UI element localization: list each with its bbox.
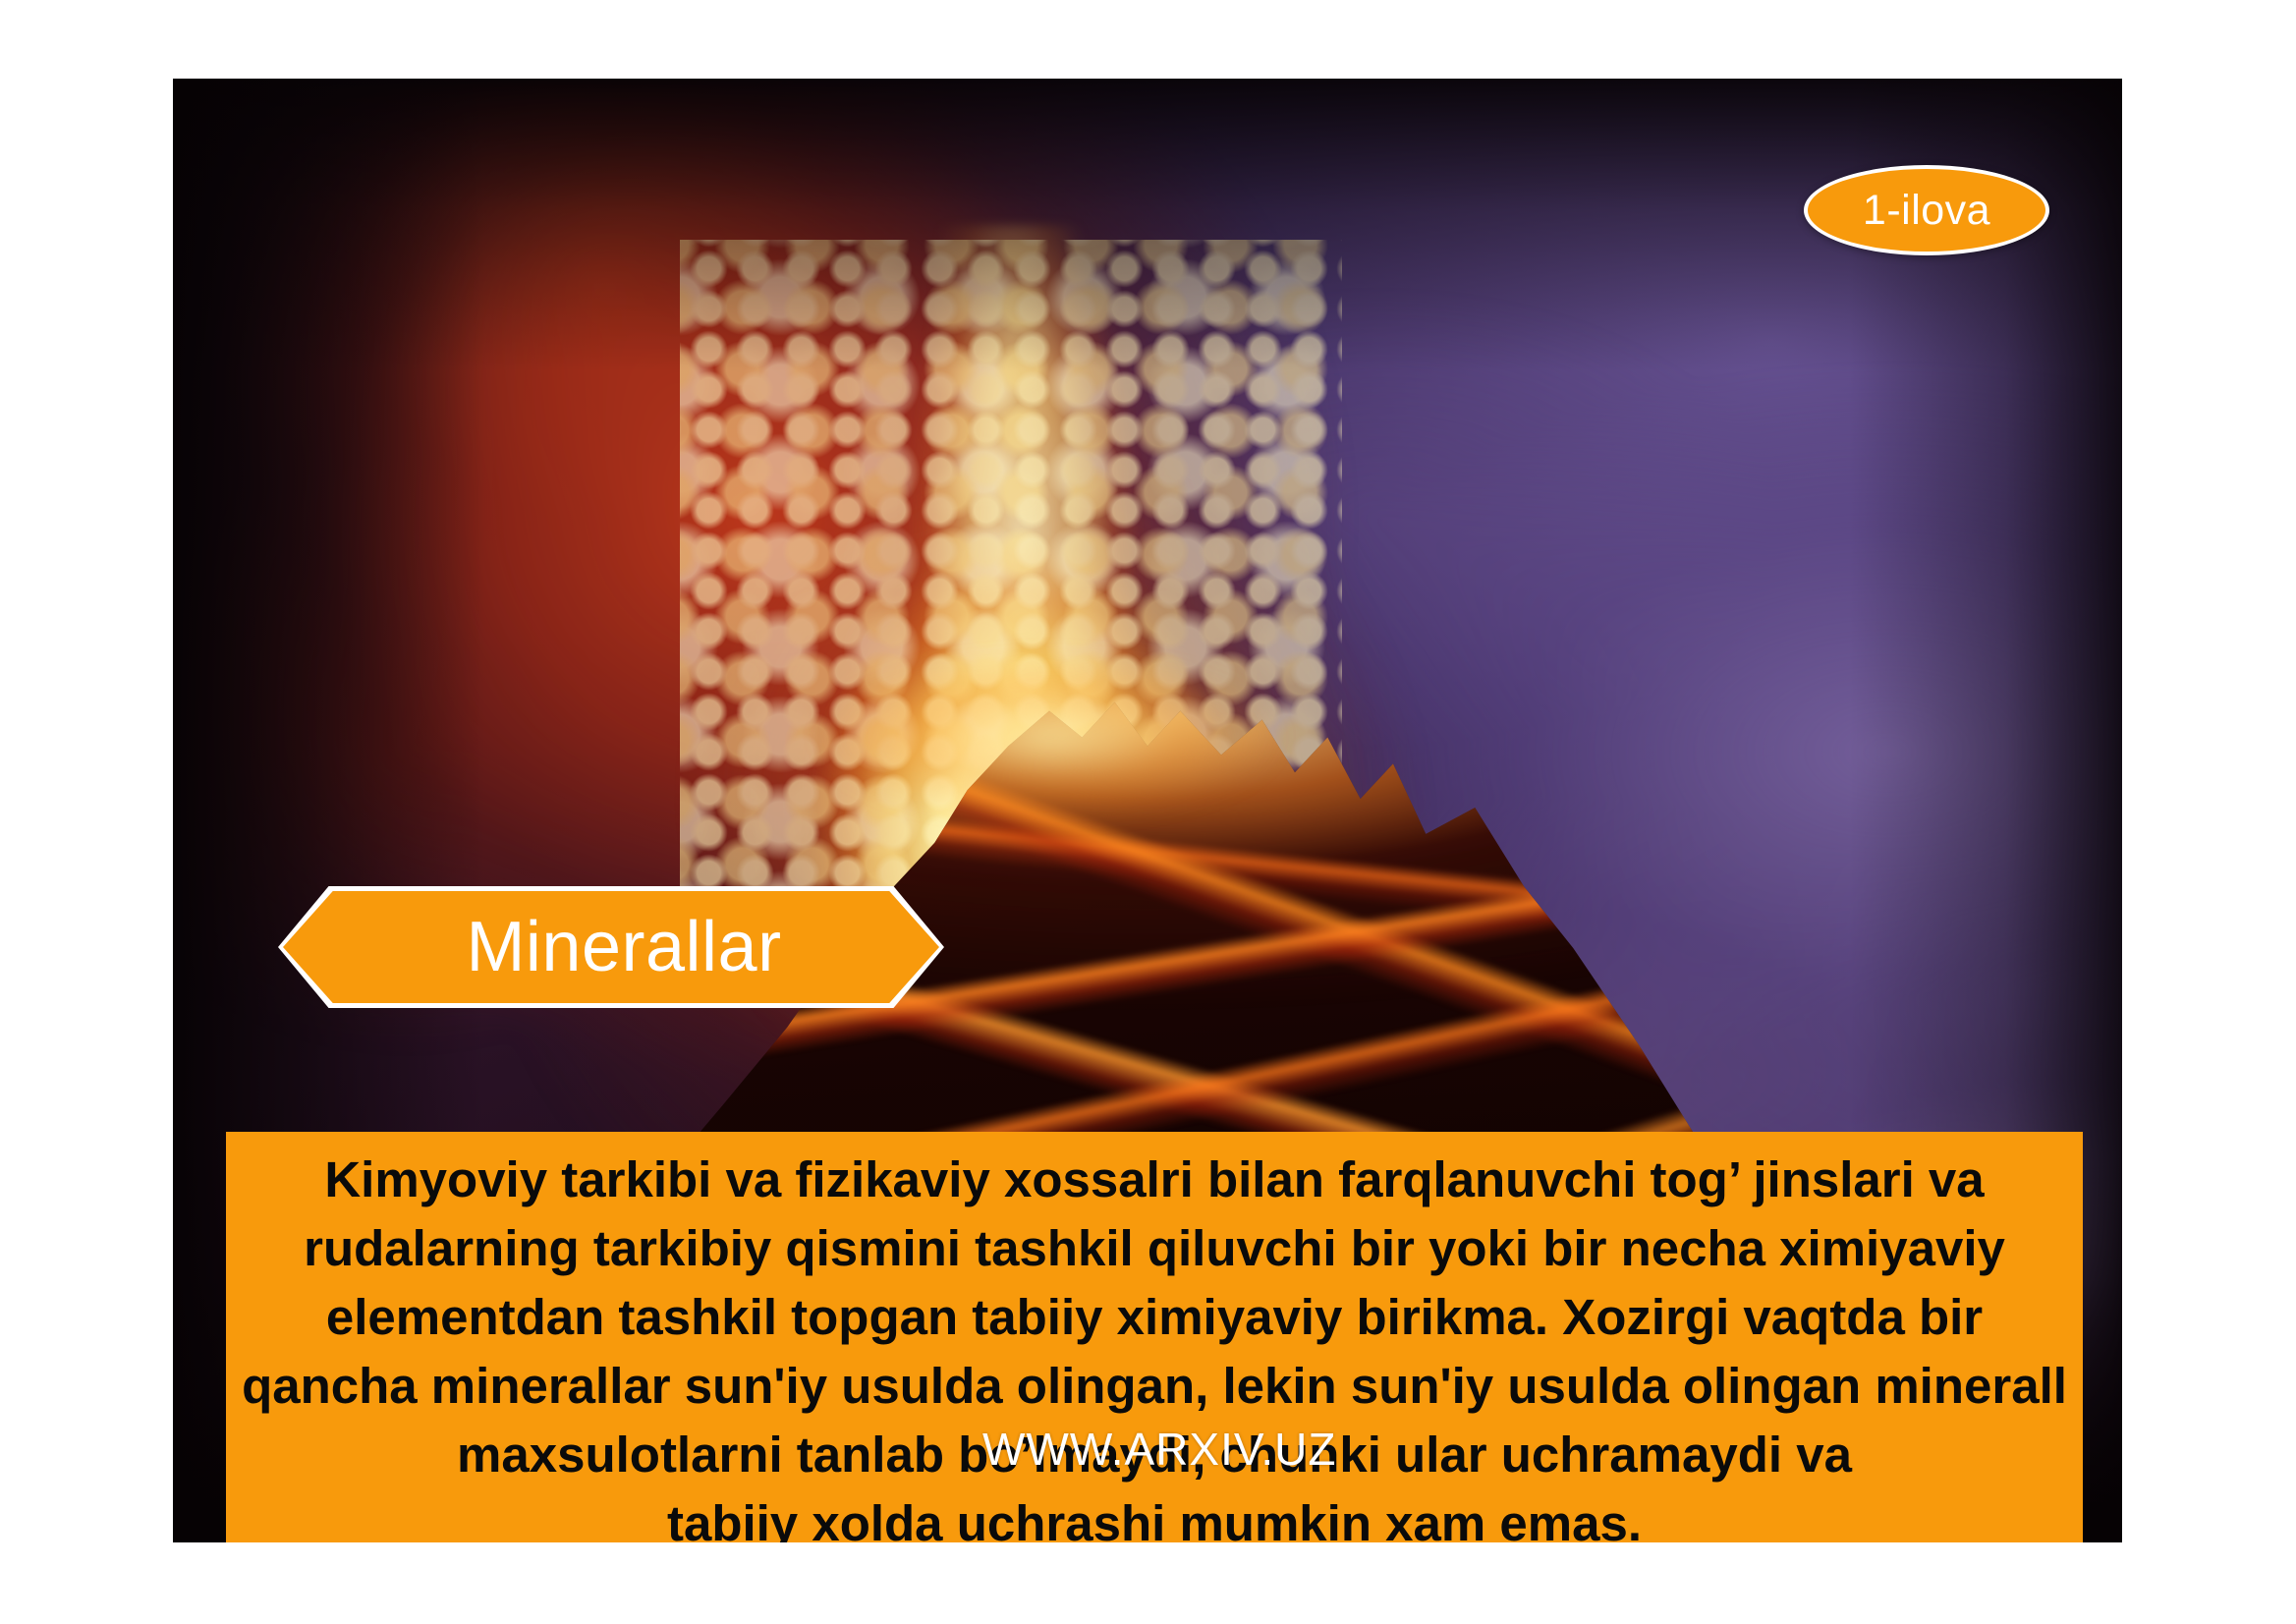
description-box: Kimyoviy tarkibi va fizikaviy xossalri b… <box>226 1132 2083 1542</box>
description-line: Kimyoviy tarkibi va fizikaviy xossalri b… <box>226 1146 2083 1214</box>
title-banner: Minerallar <box>278 886 944 1008</box>
description-line: qancha minerallar sun'iy usulda olingan,… <box>226 1352 2083 1421</box>
description-text: Kimyoviy tarkibi va fizikaviy xossalri b… <box>226 1146 2083 1542</box>
ilova-badge: 1-ilova <box>1804 165 2049 255</box>
description-line: rudalarning tarkibiy qismini tashkil qil… <box>226 1214 2083 1283</box>
title-banner-fill: Minerallar <box>283 891 939 1003</box>
description-line: tabiiy xolda uchrashi mumkin xam emas. <box>226 1489 2083 1542</box>
description-line: maxsulotlarni tanlab bo’lmaydi, chunki u… <box>226 1421 2083 1489</box>
page-title: Minerallar <box>440 912 781 982</box>
description-line: elementdan tashkil topgan tabiiy ximiyav… <box>226 1283 2083 1352</box>
ilova-badge-label: 1-ilova <box>1863 190 1990 232</box>
